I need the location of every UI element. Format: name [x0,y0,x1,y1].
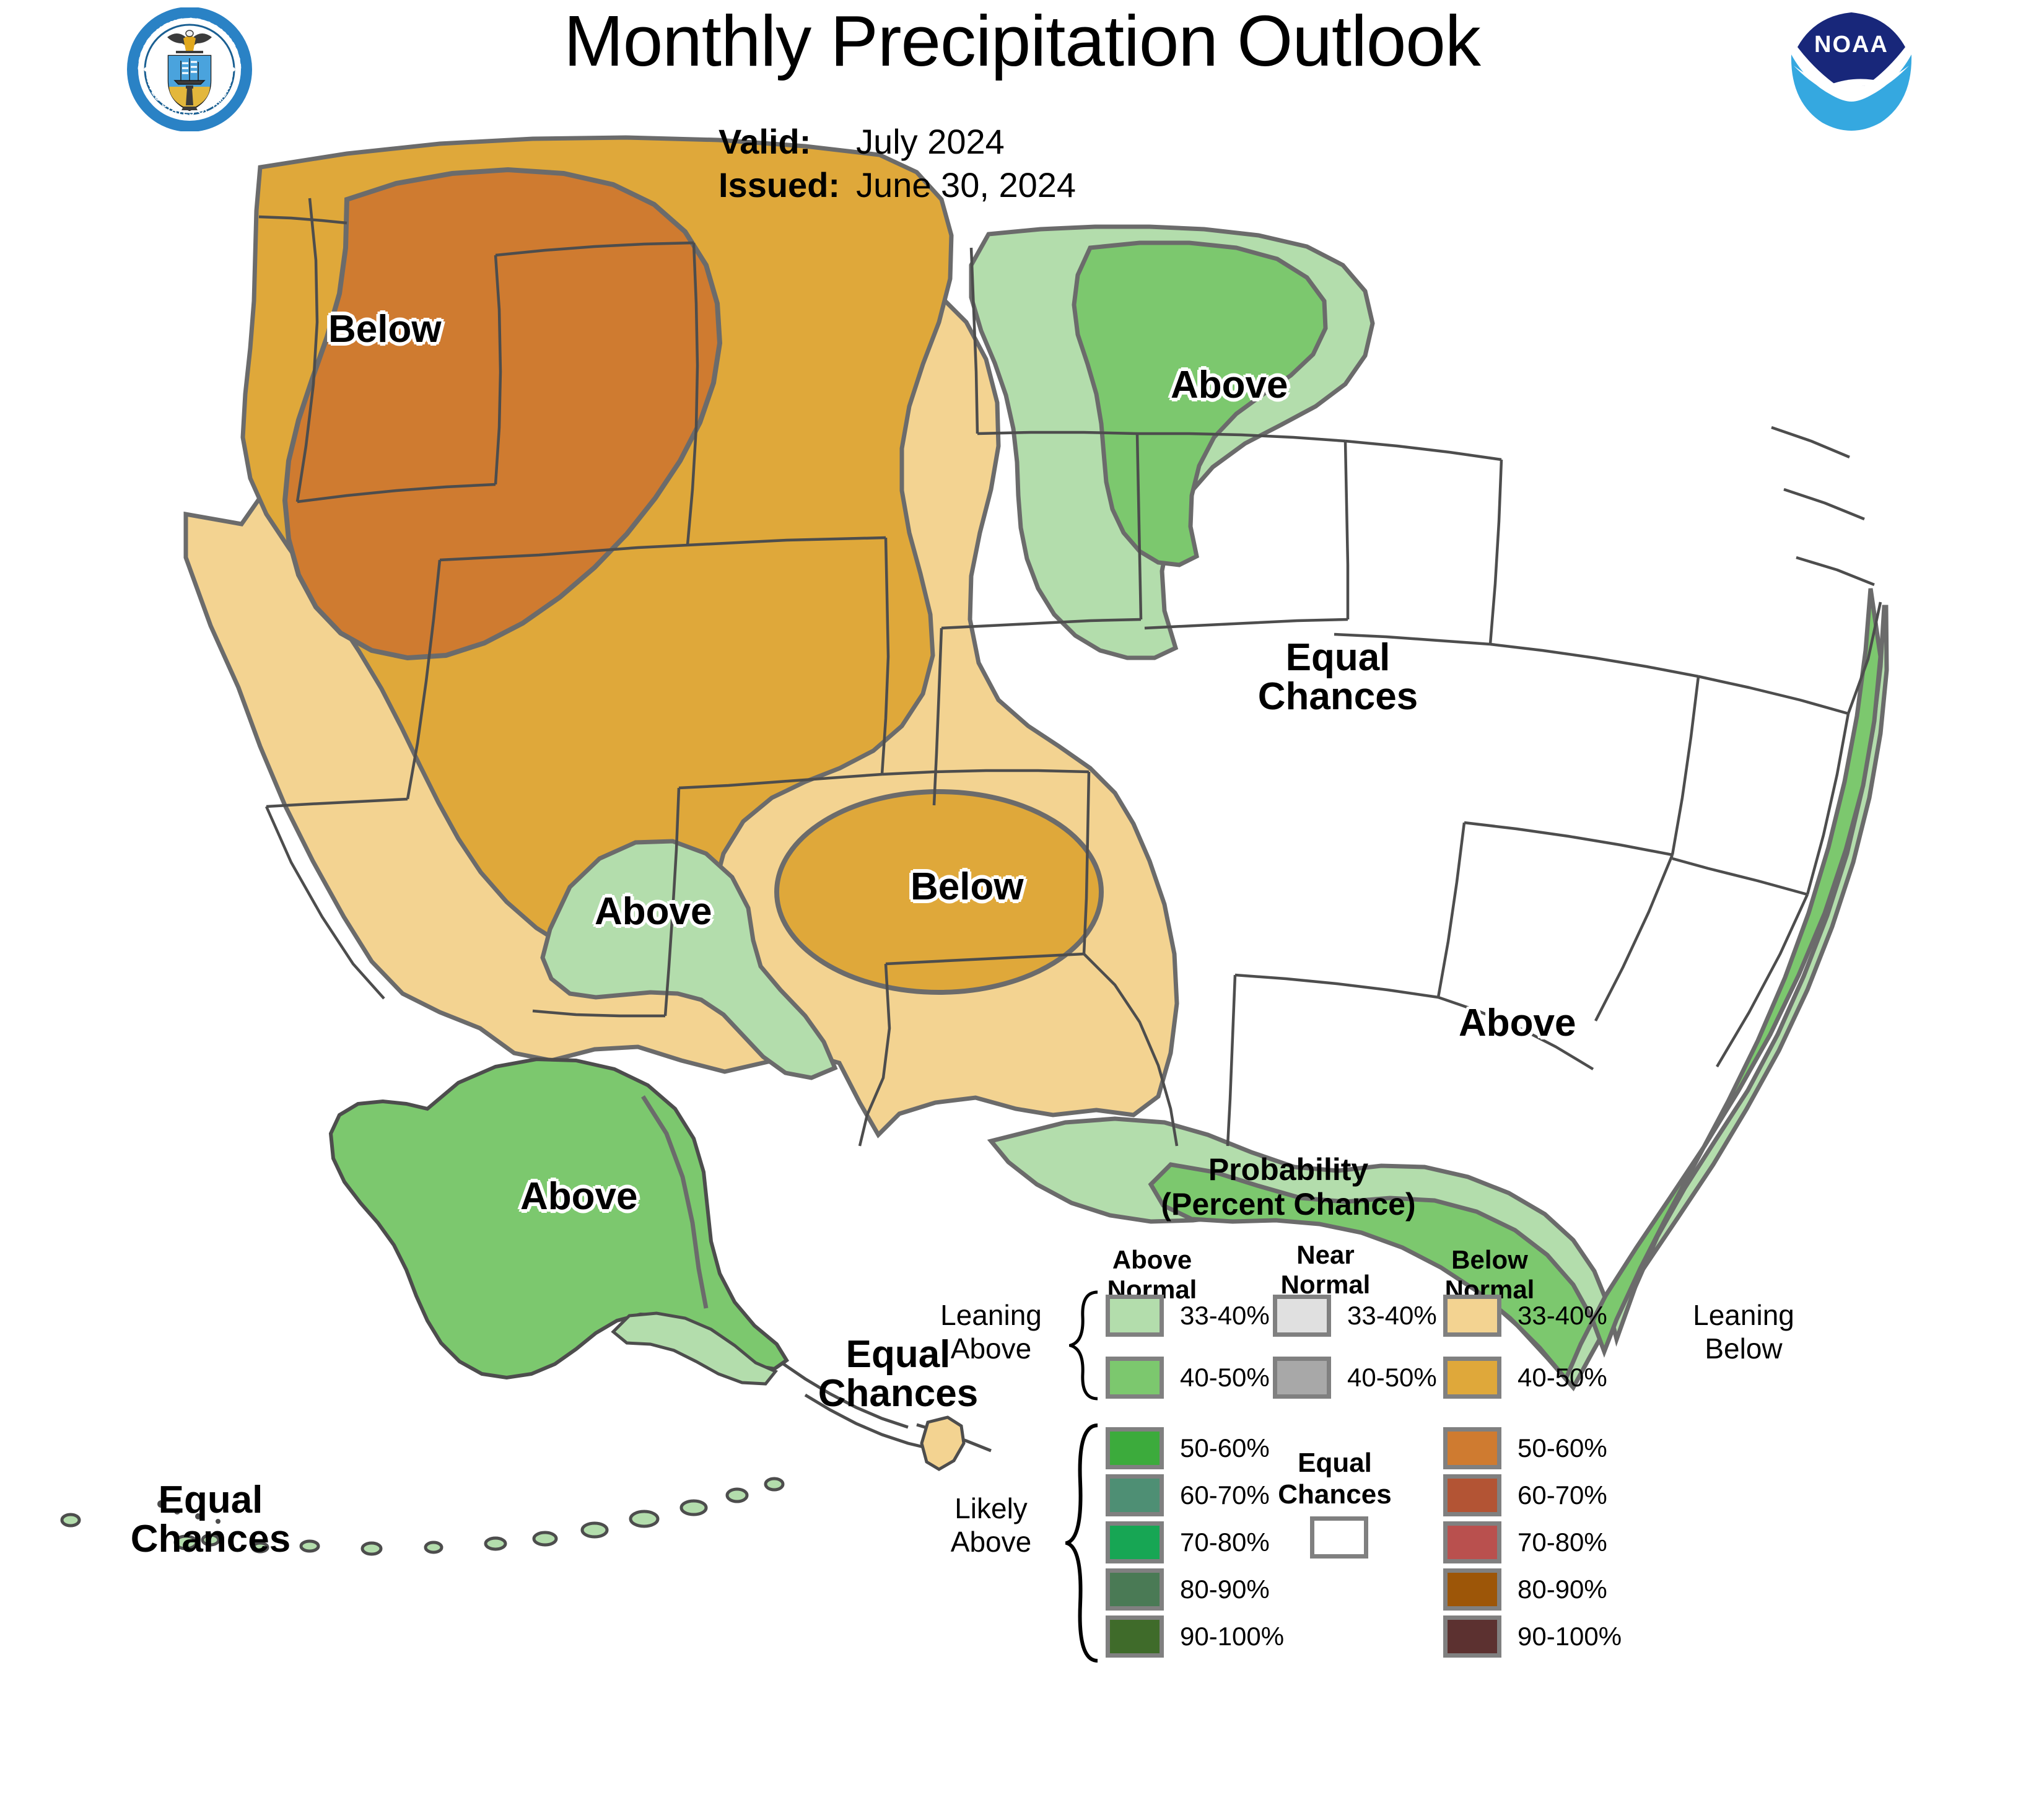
page-title: Monthly Precipitation Outlook [0,5,2044,77]
legend-label-above-70-80: 70-80% [1180,1528,1270,1557]
legend-title-line2: (Percent Chance) [948,1187,1629,1222]
grp-line1: Likely [911,1492,1072,1525]
legend-swatch-above-50-60[interactable] [1106,1427,1164,1469]
grp-line1: Leaning [911,1298,1072,1332]
legend-label-below-90-100: 90-100% [1518,1622,1622,1651]
legend-swatch-near-33-40[interactable] [1273,1295,1331,1337]
map-label-east-equal-chances: EqualChances [1220,638,1456,716]
legend-swatch-above-70-80[interactable] [1106,1521,1164,1563]
legend-swatch-above-90-100[interactable] [1106,1615,1164,1658]
map-label-pnw-below: Below [328,310,442,349]
valid-issued-block: Valid: July 2024 Issued: June 30, 2024 [718,121,1076,208]
legend: Probability (Percent Chance) Above Norma… [948,1152,1914,1573]
col-head-line1: Near [1254,1240,1397,1270]
legend-group-leaning-above: Leaning Above [911,1298,1072,1366]
map-label-southplains-below: Below [911,867,1024,906]
legend-label-below-33-40: 33-40% [1518,1301,1607,1331]
legend-title-line1: Probability [948,1152,1629,1187]
legend-swatch-below-33-40[interactable] [1443,1295,1501,1337]
ec-line2: Chances [1254,1479,1415,1510]
legend-label-below-60-70: 60-70% [1518,1480,1607,1510]
issued-value: June 30, 2024 [856,165,1076,208]
map-label-southeast-above: Above [1459,1003,1576,1043]
legend-swatch-below-80-90[interactable] [1443,1568,1501,1611]
legend-title: Probability (Percent Chance) [948,1152,1629,1222]
alaska-landmass [331,1059,787,1384]
legend-group-leaning-below: Leaning Below Likely Below [1663,1298,1824,1366]
legend-equal-chances-label: Equal Chances [1254,1447,1415,1510]
map-label-southwest-above: Above [595,892,712,931]
valid-label: Valid: [718,121,856,165]
legend-swatch-below-70-80[interactable] [1443,1521,1501,1563]
valid-value: July 2024 [856,121,1076,165]
legend-swatch-equal-chances[interactable] [1310,1516,1368,1559]
grp-line1: Leaning [1663,1298,1824,1332]
legend-label-above-40-50: 40-50% [1180,1363,1270,1392]
legend-group-likely-above: Likely Above [911,1492,1072,1559]
map-label-alaska-above: Above [520,1177,637,1216]
issued-label: Issued: [718,165,856,208]
brace-leaning-above [1069,1290,1101,1401]
legend-label-near-40-50: 40-50% [1347,1363,1437,1392]
col-head-line1: Below [1418,1245,1561,1275]
legend-label-above-80-90: 80-90% [1180,1575,1270,1604]
col-head-line1: Above [1081,1245,1223,1275]
legend-swatch-below-90-100[interactable] [1443,1615,1501,1658]
grp-line2: Above [911,1525,1072,1559]
legend-swatch-below-60-70[interactable] [1443,1474,1501,1516]
legend-swatch-above-40-50[interactable] [1106,1357,1164,1399]
map-label-aleutian-equal-chances: EqualChances [99,1480,322,1559]
legend-label-below-80-90: 80-90% [1518,1575,1607,1604]
legend-swatch-below-50-60[interactable] [1443,1427,1501,1469]
ec-line1: Equal [1254,1447,1415,1479]
legend-swatch-near-40-50[interactable] [1273,1357,1331,1399]
legend-label-below-70-80: 70-80% [1518,1528,1607,1557]
grp-line2: Above [911,1332,1072,1365]
legend-label-near-33-40: 33-40% [1347,1301,1437,1331]
legend-swatch-below-40-50[interactable] [1443,1357,1501,1399]
legend-col-head-near-normal: Near Normal [1254,1240,1397,1300]
legend-swatch-above-33-40[interactable] [1106,1295,1164,1337]
legend-swatch-above-60-70[interactable] [1106,1474,1164,1516]
legend-label-above-90-100: 90-100% [1180,1622,1284,1651]
grp-line2: Below [1663,1332,1824,1365]
legend-label-above-33-40: 33-40% [1180,1301,1270,1331]
legend-label-below-40-50: 40-50% [1518,1363,1607,1392]
map-label-midwest-above: Above [1171,365,1288,404]
brace-likely-above [1065,1422,1101,1664]
legend-swatch-above-80-90[interactable] [1106,1568,1164,1611]
legend-label-below-50-60: 50-60% [1518,1433,1607,1463]
